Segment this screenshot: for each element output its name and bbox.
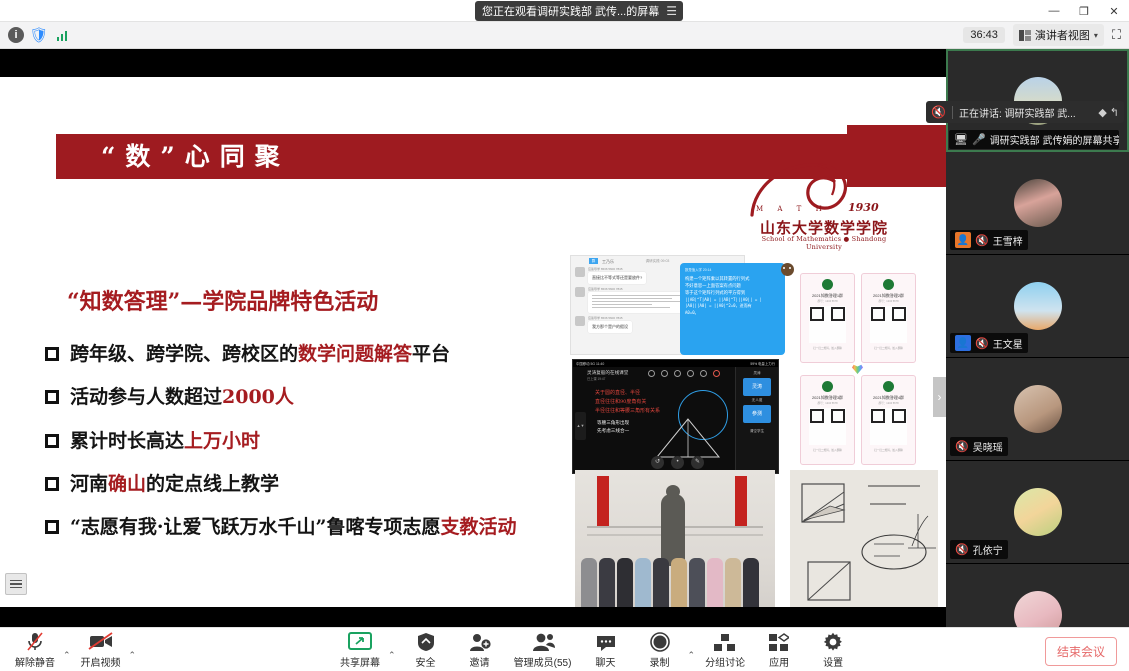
video-tile[interactable]: 🔇 吴晓瑶 [946,358,1129,461]
slide-title: “数”心同聚 [101,134,290,179]
person-icon [687,370,694,377]
participants-filmstrip[interactable]: 🖥 🎤 调研实践部 武传娟的屏幕共享 👤 🔇 王雪梓 👤 🔇 王文星 [946,49,1129,627]
host-badge-icon: 👤 [955,232,971,248]
minimize-button[interactable]: — [1039,0,1069,22]
qr-code-image [809,408,846,445]
qr-card-subtitle: 群号：1234 5678 [801,401,854,405]
speaker-view-icon [1019,30,1031,41]
breakout-rooms-icon [714,631,736,652]
checkbox-square-icon [45,477,59,491]
top-toolbar-left: i 🛡 [0,27,70,43]
chat-answer-line: 等于这个矩阵行列式的平方得到 [685,290,780,297]
video-tile[interactable]: ⌄ [946,564,1129,627]
video-off-icon [88,631,114,652]
checkbox-square-icon [45,520,59,534]
qr-card: 2021知数答理3群 群号：1234 5678 扫一扫二维码，加入群聊 [800,375,855,465]
window-title-bar: 您正在观看调研实践部 武传...的屏幕 ☰ — ❐ ✕ [0,0,1129,22]
invite-button[interactable]: 邀请 [453,631,507,669]
participant-name: 调研实践部 武传娟的屏幕共享 [990,132,1119,147]
status-right: 59% 电量上力行 [750,361,775,366]
record-button[interactable]: 录制 [633,631,687,669]
unmute-button[interactable]: 解除静音 [8,631,62,669]
participant-nametag: 👤 🔇 王雪梓 [950,230,1028,250]
pen-icon: ✎ [691,456,704,469]
avatar [1014,282,1062,330]
participant-nametag: 🔇 孔依宁 [950,540,1008,559]
slide-menu-icon[interactable] [5,573,27,595]
qr-card-subtitle: 群号：1234 5678 [862,401,915,405]
mic-off-icon: 🔇 [975,337,989,350]
meeting-top-toolbar: i 🛡 36:43 演讲者视图 ▾ ⛶ [0,22,1129,49]
list-item: “志愿有我·让爱飞跃万水千山”鲁喀专项志愿支教活动 [45,515,575,539]
board-sketch [790,470,938,607]
share-screen-button[interactable]: 共享屏幕 [333,631,387,669]
apps-button[interactable]: 应用 [752,631,806,669]
breakout-rooms-button[interactable]: 分组讨论 [698,631,752,669]
chat-icon [674,370,681,377]
audio-options-caret[interactable]: ⌃ [63,650,71,661]
qr-card: 2021知数答理4群 群号：1234 5678 扫一扫二维码，加入群聊 [861,375,916,465]
chat-bubble: 我方那个是户的假设 [588,321,632,333]
participant-nametag: 🔇 吴晓瑶 [950,437,1008,456]
mic-off-icon: 🔇 [975,234,989,247]
hand-icon [661,370,668,377]
hamburger-icon[interactable]: ☰ [666,4,676,18]
bullet-text: 活动参与人数超过2000人 [70,385,294,409]
avatar [1014,591,1062,627]
video-tile[interactable]: 👤 🔇 王文星 [946,255,1129,358]
chat-sender: 应答导学 6536 5600 7845 [588,316,632,320]
qr-card-footer: 扫一扫二维码，加入群聊 [801,448,854,452]
qr-code-image [809,306,846,343]
class-side-panel: 灵涛 灵涛 无人邀 参测 清空学生 [735,367,778,474]
group-avatar [883,381,894,392]
chat-sender: 应答导学 6536 5600 7845 [588,267,646,271]
list-item: 跨年级、跨学院、跨校区的数学问题解答平台 [45,342,575,366]
side-label: 灵涛 [736,371,778,376]
share-options-caret[interactable]: ⌃ [388,650,396,661]
left-controls: 解除静音 ⌃ 开启视频 ⌃ [0,631,139,669]
invite-label: 邀请 [470,654,490,669]
qr-card-footer: 扫一扫二维码，加入群聊 [801,346,854,350]
close-button[interactable]: ✕ [1099,0,1129,22]
status-left: 中国移动 5G 11:40 [576,361,604,366]
participants-icon [531,631,555,652]
people-row [581,558,759,607]
window-controls: — ❐ ✕ [1039,0,1129,22]
screen-share-notice: 您正在观看调研实践部 武传...的屏幕 ☰ [475,1,683,21]
participant-name: 吴晓瑶 [973,439,1003,454]
chat-bubble: 直接比不等式等还是要放件? [588,272,646,284]
shared-screen-stage: 🔇 正在讲话: 调研实践部 武... ◆ ↰ “数”心同聚 M A T H 19… [0,49,946,627]
share-screen-icon [348,631,372,652]
side-label: 清空学生 [736,429,778,434]
screen-share-icon: 🖥 [954,133,968,146]
active-speaker-label: 正在讲话: 调研实践部 武... [959,105,1076,120]
bullet-text: 累计时长高达上万小时 [70,429,260,453]
page-nav[interactable]: ▲▼ [575,412,586,440]
avatar [1014,179,1062,227]
meeting-timer: 36:43 [963,27,1005,43]
triangle-diagram [653,417,723,459]
view-mode-label: 演讲者视图 [1035,27,1090,43]
mic-off-icon [25,631,45,652]
list-item: 河南确山的定点线上教学 [45,472,575,496]
meeting-controls-toolbar: 解除静音 ⌃ 开启视频 ⌃ [0,627,1129,671]
qr-card-subtitle: 群号：1234 5678 [801,299,854,303]
red-banner-left [597,476,609,528]
next-slide-button[interactable]: › [933,377,946,417]
maximize-button[interactable]: ❐ [1069,0,1099,22]
security-label: 安全 [416,654,436,669]
divider [952,106,953,119]
chat-bubble-icon [595,631,617,652]
zoom-meeting-window: 您正在观看调研实践部 武传...的屏幕 ☰ — ❐ ✕ i 🛡 36:43 演讲… [0,0,1129,671]
minus-icon [648,370,655,377]
phone-status-bar: 中国移动 5G 11:40 59% 电量上力行 [573,360,778,367]
info-icon[interactable]: i [8,27,24,43]
avatar [575,316,585,326]
fullscreen-icon[interactable]: ⛶ [1112,27,1120,43]
participant-name: 孔依宁 [973,542,1003,557]
side-button[interactable]: 灵涛 [743,378,771,396]
side-label: 无人邀 [736,398,778,403]
chat-label: 聊天 [596,654,616,669]
presentation-slide: “数”心同聚 M A T H 1930 山东大学数学学院 School of M… [0,77,946,607]
list-item: 累计时长高达上万小时 [45,429,575,453]
network-bars-icon[interactable] [54,27,70,43]
top-toolbar-right: 36:43 演讲者视图 ▾ ⛶ [963,24,1129,46]
video-tile[interactable]: 👤 🔇 王雪梓 [946,152,1129,255]
record-circle-icon [650,631,670,652]
unmute-label: 解除静音 [15,654,55,669]
center-controls: 共享屏幕 ⌃ 安全 [333,631,860,669]
group-avatar [822,279,833,290]
avatar [575,287,585,297]
video-tile[interactable]: 🔇 孔依宁 [946,461,1129,564]
bullet-text: 跨年级、跨学院、跨校区的数学问题解答平台 [70,342,450,366]
mic-on-icon: 🎤 [972,133,986,146]
chat-group-tag: 群 [589,258,598,264]
manage-participants-button[interactable]: 管理成员(55) [507,631,579,669]
prev-arrow-icon[interactable]: ◆ [1098,106,1106,119]
screen-share-notice-text: 您正在观看调研实践部 武传...的屏幕 [482,3,659,19]
checkbox-square-icon [45,390,59,404]
avatar [1014,488,1062,536]
start-video-button[interactable]: 开启视频 [74,631,128,669]
chat-answer-line: A0=0。 [685,310,780,316]
class-action-buttons[interactable]: ↺•✎ [651,456,704,469]
mic-off-icon: 🔇 [955,543,969,556]
participant-name: 王文星 [993,336,1023,351]
chat-sender: 应答导学 6536 5600 7845 [588,287,688,291]
start-video-label: 开启视频 [81,654,121,669]
class-toolbar[interactable] [648,370,720,377]
logo-english-name: School of Mathematics ● Shandong Univers… [744,235,904,251]
shield-icon[interactable]: 🛡 [31,27,47,43]
undo-icon: ↺ [651,456,664,469]
qr-code-image [870,408,907,445]
avatar [1014,385,1062,433]
checkbox-square-icon [45,434,59,448]
chat-sender-name: 工乃乐 [602,259,614,265]
online-class-screenshot: 中国移动 5G 11:40 59% 电量上力行 灵涛复般的在线课堂 已上课 19… [572,359,779,474]
qr-card-footer: 扫一扫二维码，加入群聊 [862,448,915,452]
list-item: 活动参与人数超过2000人 [45,385,575,409]
qr-card-footer: 扫一扫二维码，加入群聊 [862,346,915,350]
red-banner-right [735,476,747,528]
view-mode-selector[interactable]: 演讲者视图 ▾ [1013,24,1104,46]
chat-answer-meta: 数是值入学 20:14 [685,268,780,273]
mic-off-icon: 🔇 [931,105,946,119]
slide-bullet-list: 跨年级、跨学院、跨校区的数学问题解答平台 活动参与人数超过2000人 累计时长高… [45,342,575,559]
emoji-avatar-icon [781,263,794,276]
school-logo: M A T H 1930 山东大学数学学院 School of Mathemat… [744,161,904,251]
breakout-rooms-label: 分组讨论 [705,654,745,669]
bullet-text: “志愿有我·让爱飞跃万水千山”鲁喀专项志愿支教活动 [70,515,517,539]
qr-code-image [870,306,907,343]
bullet-text: 河南确山的定点线上教学 [70,472,279,496]
participant-nametag: 👤 🔇 王文星 [950,333,1028,353]
leave-icon [713,370,720,377]
qr-card-subtitle: 群号：1234 5678 [862,299,915,303]
chat-bubble-image [588,292,688,313]
chat-button[interactable]: 聊天 [579,631,633,669]
apps-grid-icon [769,631,789,652]
speaker-nav[interactable]: ◆ ↰ [1098,106,1119,119]
group-avatar [822,381,833,392]
gear-icon [823,631,843,652]
dot-icon: • [671,456,684,469]
group-photo [575,470,775,607]
record-label: 录制 [650,654,670,669]
apps-label: 应用 [769,654,789,669]
settings-label: 设置 [823,654,843,669]
statue [661,494,685,566]
qr-card: 2021知数答理1群 群号：1234 5678 扫一扫二维码，加入群聊 [800,273,855,363]
slide-subtitle: “知数答理”—学院品牌特色活动 [67,284,378,316]
security-shield-icon [417,631,435,652]
cohost-badge-icon: 👤 [955,335,971,351]
share-screen-label: 共享屏幕 [340,654,380,669]
security-button[interactable]: 安全 [399,631,453,669]
checkbox-square-icon [45,347,59,361]
chevron-down-icon: ▾ [1094,31,1098,40]
participant-name: 王雪梓 [993,233,1023,248]
logo-year: 1930 [848,201,879,214]
active-speaker-banner: 🔇 正在讲话: 调研实践部 武... ◆ ↰ [926,101,1124,123]
side-button[interactable]: 参测 [743,405,771,423]
back-arrow-icon[interactable]: ↰ [1110,106,1119,119]
record-options-caret[interactable]: ⌃ [688,650,696,661]
group-avatar [883,279,894,290]
participant-nametag: 🖥 🎤 调研实践部 武传娟的屏幕共享 [949,130,1119,149]
avatar [575,267,585,277]
chat-answer-bubble: 数是值入学 20:14 构建一个矩阵乘以其转置的行列式 不好意思一上面答案有点问… [680,263,785,355]
mic-off-icon: 🔇 [955,440,969,453]
qr-card: 2021知数答理2群 群号：1234 5678 扫一扫二维码，加入群聊 [861,273,916,363]
handwritten-board-photo [790,470,938,607]
settings-icon [700,370,707,377]
settings-button[interactable]: 设置 [806,631,860,669]
video-options-caret[interactable]: ⌃ [129,650,137,661]
manage-participants-label: 管理成员(55) [514,654,572,669]
invite-person-icon [469,631,491,652]
end-meeting-button[interactable]: 结束会议 [1045,637,1117,666]
